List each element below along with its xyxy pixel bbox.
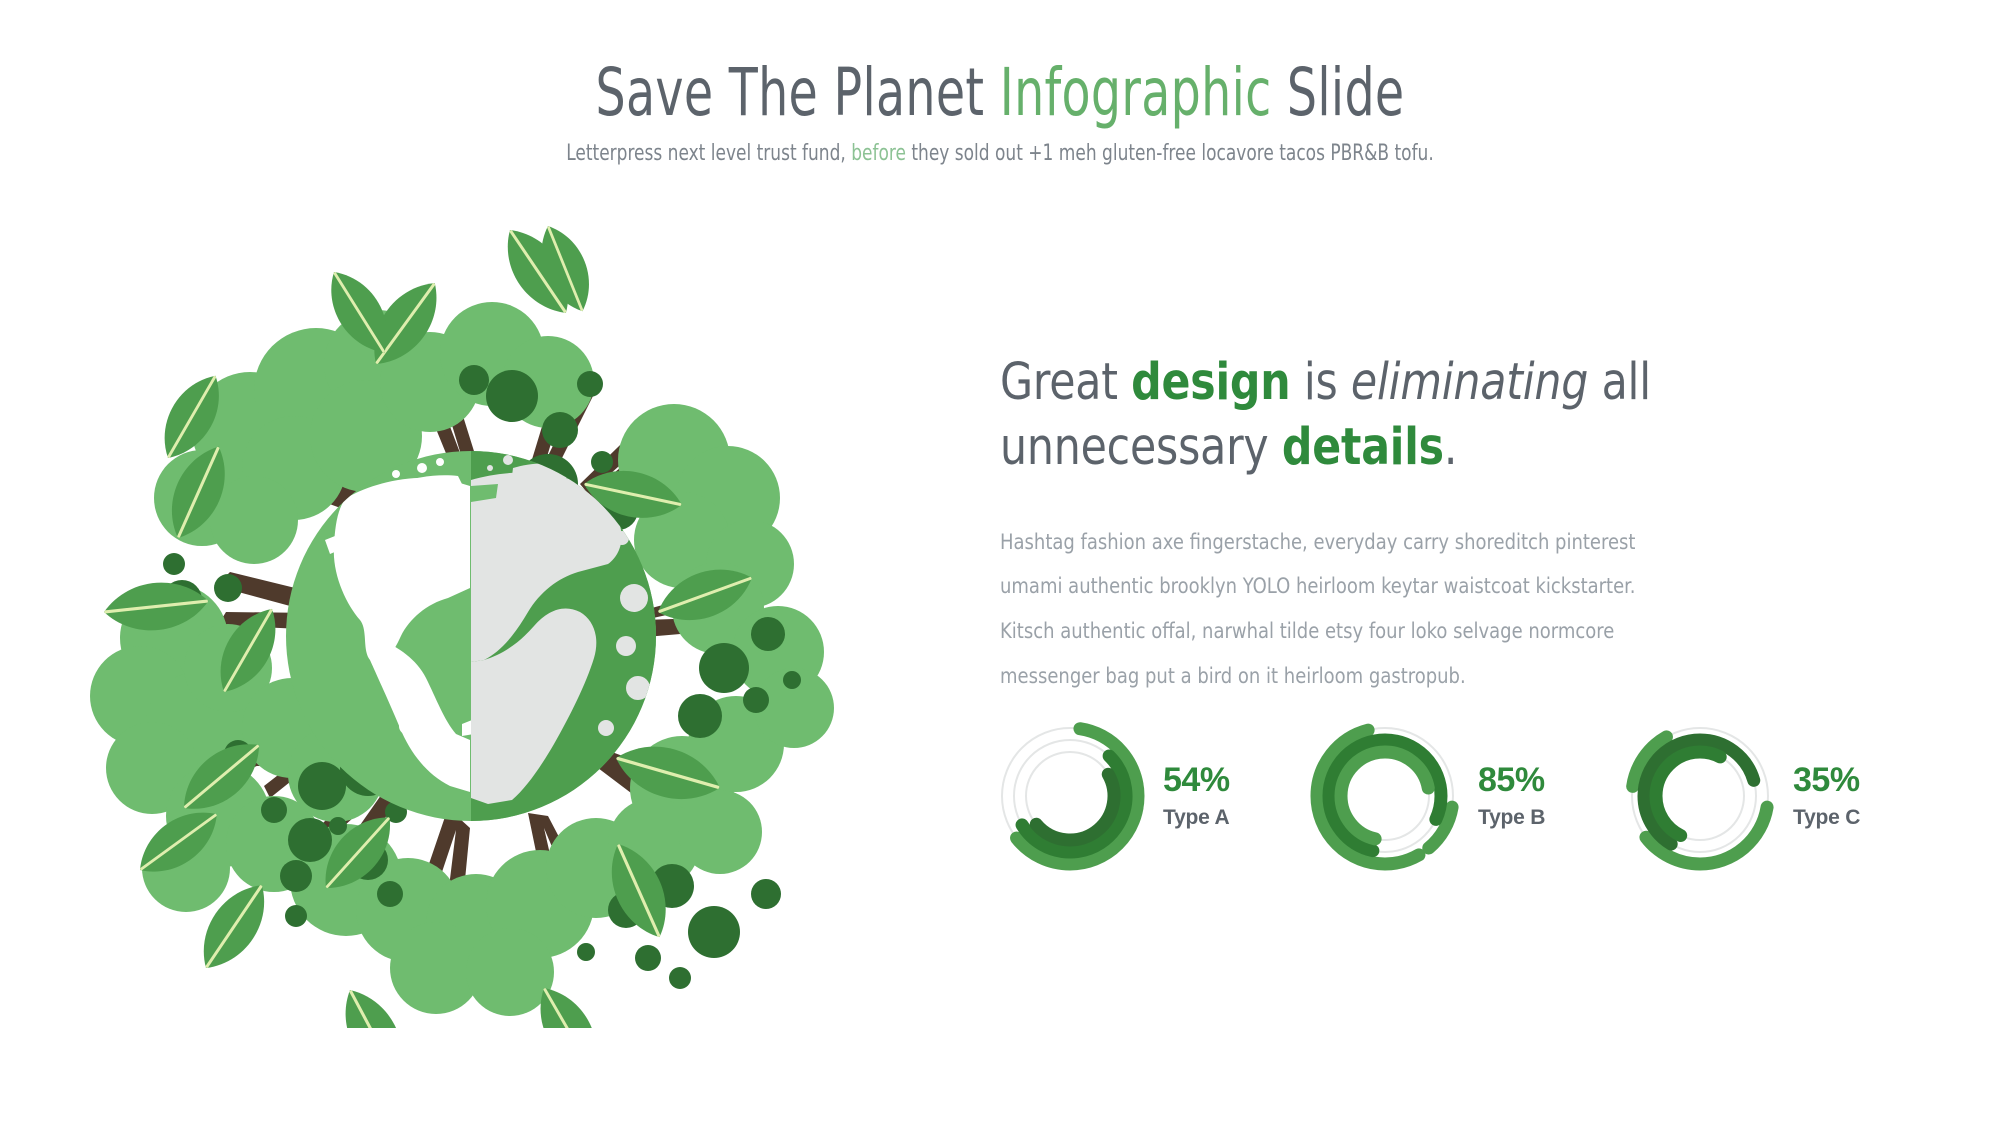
lead-italic-eliminating: eliminating (1351, 353, 1588, 412)
lead-text-2: is (1290, 353, 1350, 412)
stat-label: Type C (1793, 806, 1860, 830)
lead-bold-details: details (1282, 418, 1444, 477)
paragraph-line: Hashtag fashion axe fingerstache, everyd… (1000, 521, 1707, 566)
radial-gauge-type-c (1625, 721, 1775, 871)
title-accent: Infographic (1000, 54, 1272, 131)
paragraph-line: messenger bag put a bird on it heirloom … (1000, 655, 1707, 700)
stat-label: Type A (1163, 806, 1230, 830)
stat-type-b[interactable]: 85% Type B (1310, 712, 1545, 880)
stat-text-type-b: 85% Type B (1478, 762, 1545, 830)
tree-globe-illustration (78, 168, 908, 1028)
page-subtitle: Letterpress next level trust fund, befor… (140, 141, 1860, 166)
lead-heading: Great design is eliminating all unnecess… (1000, 350, 1837, 481)
body-paragraph: Hashtag fashion axe fingerstache, everyd… (1000, 521, 1707, 700)
radial-stats-group: 54% Type A (995, 712, 1915, 892)
main-content: Great design is eliminating all unnecess… (1000, 350, 1900, 699)
stat-percent: 54% (1163, 762, 1230, 798)
title-part-1: Save The Planet (596, 54, 1000, 131)
stat-percent: 35% (1793, 762, 1860, 798)
lead-bold-design: design (1131, 353, 1290, 412)
radial-gauge-type-a (995, 721, 1145, 871)
radial-gauge-type-b (1310, 721, 1460, 871)
page-title: Save The Planet Infographic Slide (200, 58, 1800, 127)
stat-text-type-a: 54% Type A (1163, 762, 1230, 830)
subtitle-part-1: Letterpress next level trust fund, (566, 141, 851, 166)
lead-text-4: . (1444, 418, 1457, 477)
paragraph-line: umami authentic brooklyn YOLO heirloom k… (1000, 565, 1707, 610)
slide-root: Save The Planet Infographic Slide Letter… (0, 0, 2000, 1125)
stat-label: Type B (1478, 806, 1545, 830)
stat-text-type-c: 35% Type C (1793, 762, 1860, 830)
subtitle-accent: before (851, 141, 906, 166)
subtitle-part-2: they sold out +1 meh gluten-free locavor… (906, 141, 1434, 166)
stat-type-a[interactable]: 54% Type A (995, 712, 1230, 880)
title-part-2: Slide (1272, 54, 1405, 131)
lead-text-1: Great (1000, 353, 1131, 412)
stat-percent: 85% (1478, 762, 1545, 798)
stat-type-c[interactable]: 35% Type C (1625, 712, 1860, 880)
slide-header: Save The Planet Infographic Slide Letter… (0, 58, 2000, 166)
paragraph-line: Kitsch authentic offal, narwhal tilde et… (1000, 610, 1707, 655)
